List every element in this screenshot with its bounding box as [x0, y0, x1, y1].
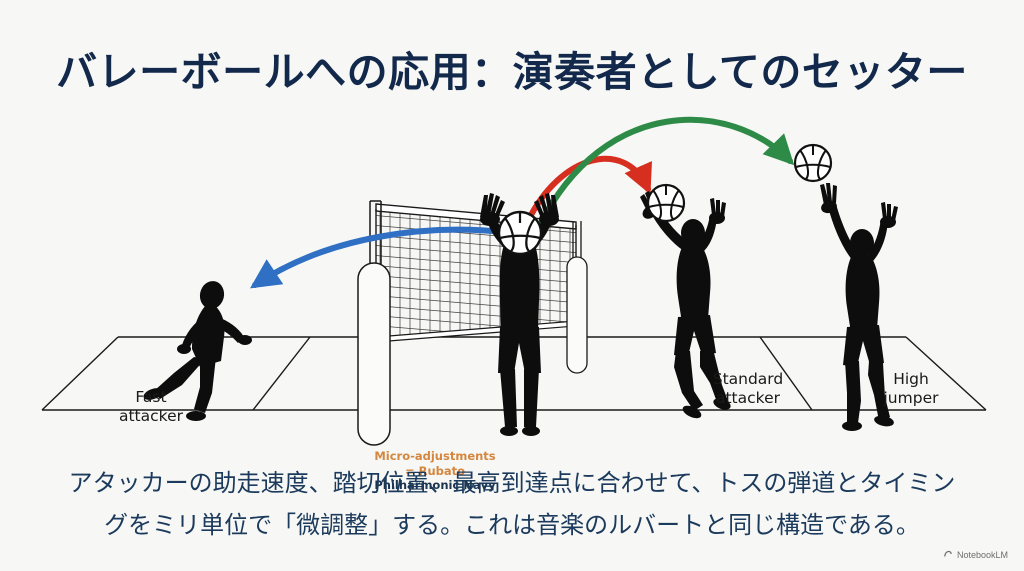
label-fast-attacker-line2: attacker — [96, 407, 206, 426]
volleyball-diagram: Fast attacker Standard attacker High jum… — [0, 105, 1024, 455]
label-high-jumper: High jumper — [865, 370, 957, 408]
label-fast-attacker: Fast attacker — [96, 388, 206, 426]
label-high-jumper-line1: High — [865, 370, 957, 389]
notebooklm-label: NotebookLM — [957, 550, 1008, 560]
slide-caption: アタッカーの助走速度、踏切位置、最高到達点に合わせて、トスの弾道とタイミングをミ… — [62, 462, 962, 546]
volleyball-high — [795, 145, 831, 181]
volleyball-standard — [648, 185, 684, 221]
label-fast-attacker-line1: Fast — [96, 388, 206, 407]
volleyball-at-setter — [499, 212, 541, 254]
label-standard-attacker-line2: attacker — [690, 389, 806, 408]
notebooklm-watermark: NotebookLM — [943, 549, 1008, 561]
page-title: バレーボールへの応用：演奏者としてのセッター — [0, 38, 1024, 98]
notebooklm-logo-icon — [943, 549, 953, 561]
slide-canvas: バレーボールへの応用：演奏者としてのセッター — [0, 0, 1024, 571]
label-standard-attacker: Standard attacker — [690, 370, 806, 408]
label-standard-attacker-line1: Standard — [690, 370, 806, 389]
label-high-jumper-line2: jumper — [865, 389, 957, 408]
